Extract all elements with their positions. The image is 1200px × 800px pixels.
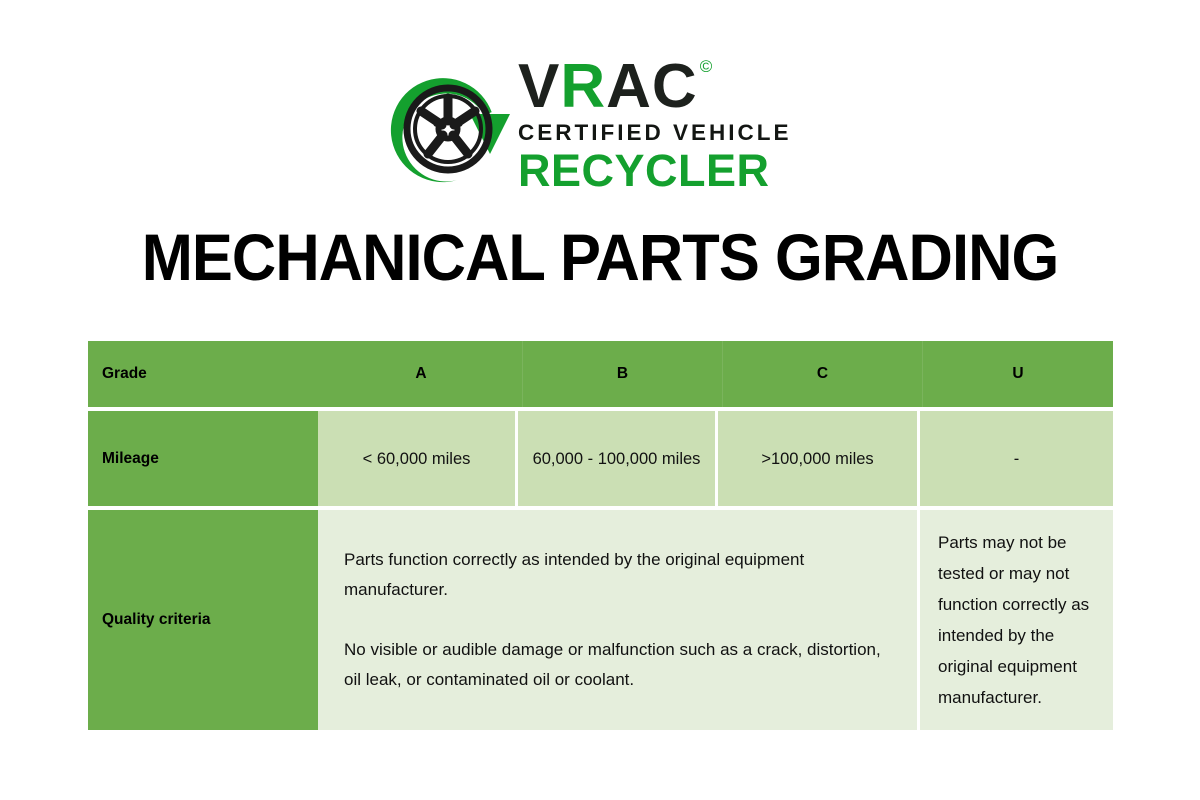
grading-poster: VRAC© CERTIFIED VEHICLE RECYCLER MECHANI… bbox=[0, 0, 1200, 800]
table-header-a: A bbox=[320, 341, 523, 407]
table-header-b: B bbox=[523, 341, 723, 407]
cell-quality-u: Parts may not be tested or may not funct… bbox=[920, 510, 1113, 730]
logo-recycler-text: RECYCLER bbox=[518, 147, 834, 195]
table-header-grade: Grade bbox=[88, 341, 320, 407]
logo-wordmark: VRAC© CERTIFIED VEHICLE RECYCLER bbox=[518, 52, 834, 195]
cell-quality-abc: Parts function correctly as intended by … bbox=[318, 510, 920, 730]
cell-mileage-u: - bbox=[920, 411, 1113, 506]
vrac-logo: VRAC© CERTIFIED VEHICLE RECYCLER bbox=[374, 52, 834, 202]
quality-paragraph-2: No visible or audible damage or malfunct… bbox=[344, 635, 893, 695]
copyright-icon: © bbox=[700, 57, 714, 76]
table-header-row: Grade A B C U bbox=[88, 341, 1113, 407]
logo-letter-r: R bbox=[560, 52, 606, 121]
cell-mileage-a: < 60,000 miles bbox=[318, 411, 518, 506]
vrac-wheel-recycle-logo-icon bbox=[374, 52, 524, 202]
mechanical-parts-grading-table: Grade A B C U Mileage < 60,000 miles 60,… bbox=[88, 341, 1113, 731]
table-row-quality-criteria: Quality criteria Parts function correctl… bbox=[88, 510, 1113, 730]
row-label-quality-criteria: Quality criteria bbox=[88, 510, 318, 730]
table-header-u: U bbox=[923, 341, 1113, 407]
table-header-c: C bbox=[723, 341, 923, 407]
table-row-mileage: Mileage < 60,000 miles 60,000 - 100,000 … bbox=[88, 411, 1113, 506]
logo-letters-ac: AC bbox=[606, 52, 698, 121]
page-title: MECHANICAL PARTS GRADING bbox=[42, 220, 1158, 294]
logo-vrac-text: VRAC© bbox=[518, 56, 834, 118]
logo-tagline: CERTIFIED VEHICLE bbox=[518, 120, 834, 146]
cell-mileage-b: 60,000 - 100,000 miles bbox=[518, 411, 718, 506]
logo-letter-v: V bbox=[518, 52, 560, 121]
cell-mileage-c: >100,000 miles bbox=[718, 411, 920, 506]
quality-paragraph-1: Parts function correctly as intended by … bbox=[344, 545, 893, 605]
row-label-mileage: Mileage bbox=[88, 411, 318, 506]
